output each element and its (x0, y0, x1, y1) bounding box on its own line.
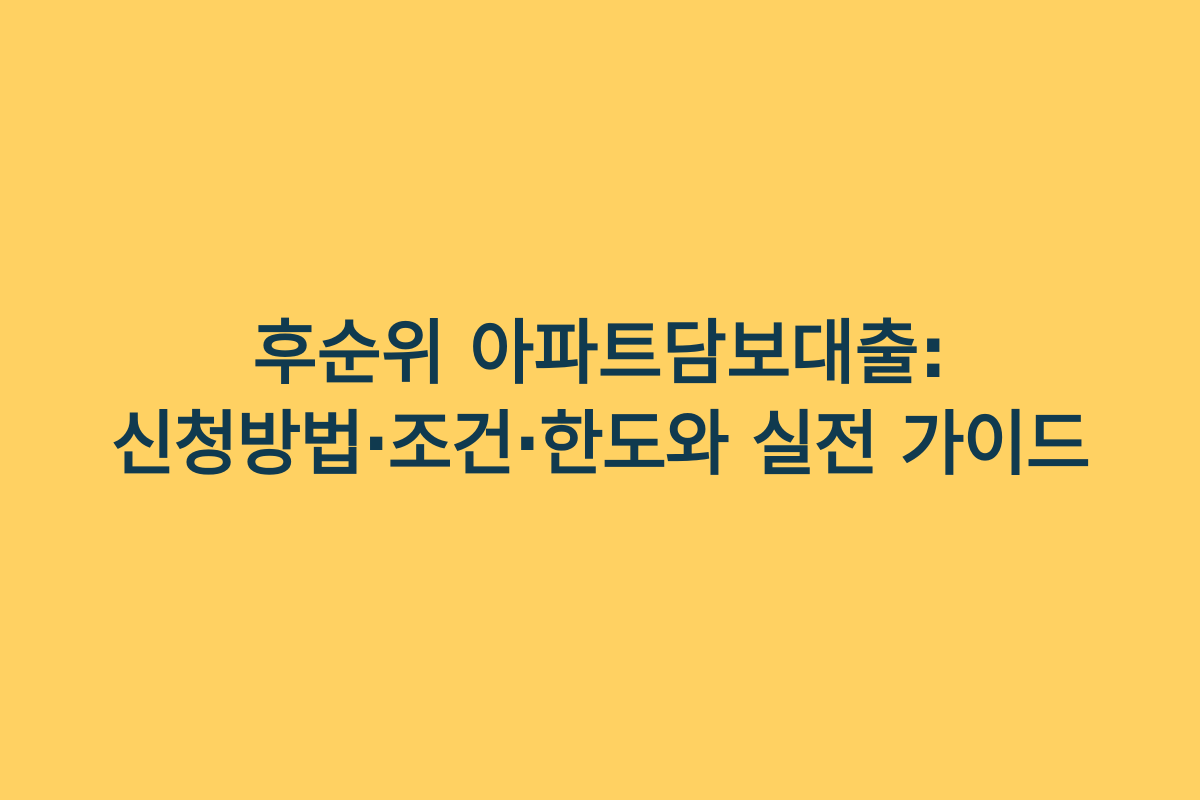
hero-banner: 후순위 아파트담보대출: 신청방법·조건·한도와 실전 가이드 (0, 0, 1200, 800)
page-title: 후순위 아파트담보대출: 신청방법·조건·한도와 실전 가이드 (0, 308, 1200, 490)
headline-line-1: 후순위 아파트담보대출: (8, 308, 1192, 399)
headline-line-2: 신청방법·조건·한도와 실전 가이드 (8, 399, 1192, 490)
